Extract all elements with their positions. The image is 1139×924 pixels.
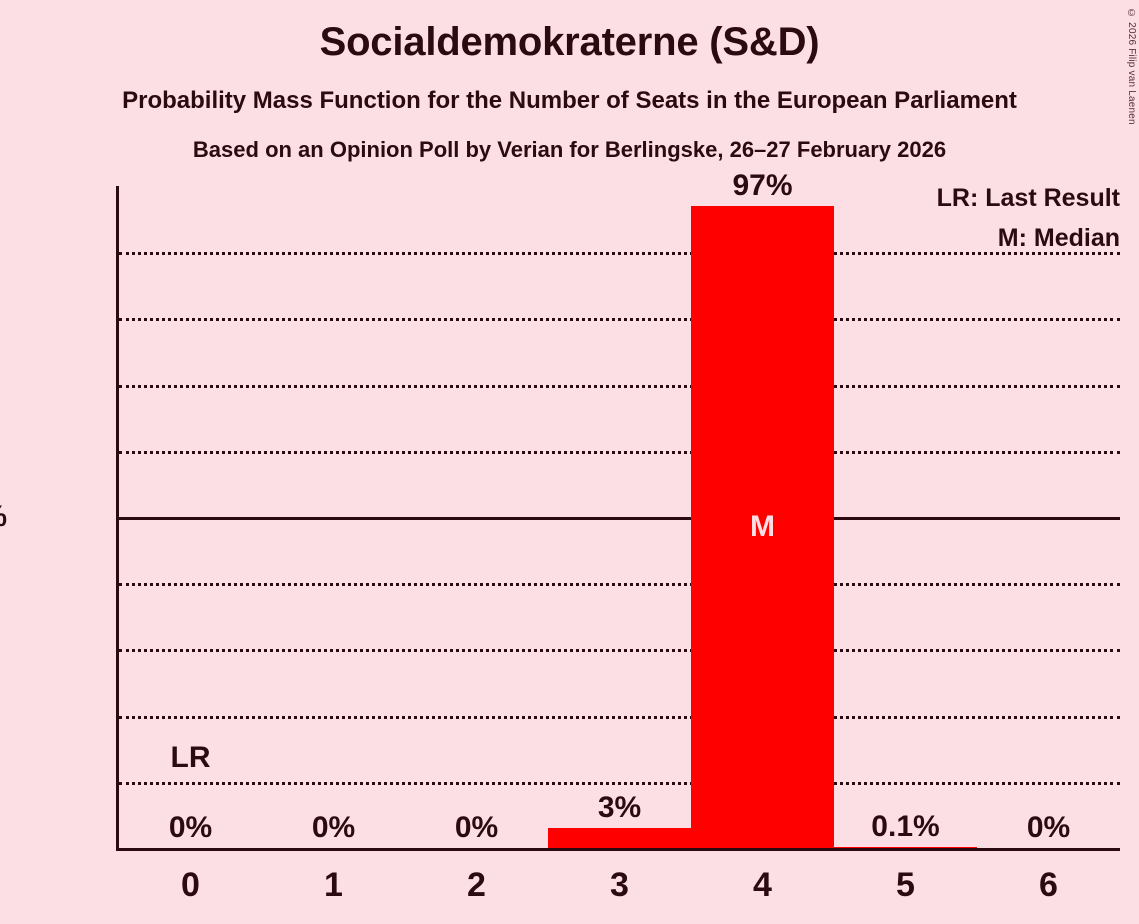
bar-seat-5[interactable] bbox=[834, 847, 977, 848]
chart-source-line: Based on an Opinion Poll by Verian for B… bbox=[0, 139, 1139, 161]
gridline-70 bbox=[119, 385, 1120, 388]
chart-subtitle: Probability Mass Function for the Number… bbox=[0, 89, 1139, 113]
y-tick-label-50: 50% bbox=[0, 502, 7, 532]
gridline-20 bbox=[119, 716, 1120, 719]
bar-value-label-1: 0% bbox=[262, 813, 405, 843]
bar-value-label-6: 0% bbox=[977, 813, 1120, 843]
x-tick-label-1: 1 bbox=[262, 868, 405, 902]
x-tick-label-0: 0 bbox=[119, 868, 262, 902]
chart-root: Socialdemokraterne (S&D) Probability Mas… bbox=[0, 0, 1139, 924]
chart-title: Socialdemokraterne (S&D) bbox=[0, 22, 1139, 62]
bar-value-label-4: 97% bbox=[691, 171, 834, 201]
x-tick-label-3: 3 bbox=[548, 868, 691, 902]
gridline-60 bbox=[119, 451, 1120, 454]
x-tick-label-2: 2 bbox=[405, 868, 548, 902]
copyright-notice: © 2026 Filip van Laenen bbox=[1126, 8, 1137, 125]
x-tick-label-6: 6 bbox=[977, 868, 1120, 902]
bar-value-label-5: 0.1% bbox=[834, 812, 977, 842]
gridline-50 bbox=[119, 517, 1120, 520]
plot-area: 0%0%0%3%97%0.1%0%LRM bbox=[119, 186, 1120, 848]
bar-marker-m-4: M bbox=[691, 512, 834, 542]
gridline-10 bbox=[119, 782, 1120, 785]
x-axis-line bbox=[116, 848, 1120, 851]
x-tick-label-4: 4 bbox=[691, 868, 834, 902]
bar-seat-3[interactable] bbox=[548, 828, 691, 848]
bar-value-label-2: 0% bbox=[405, 813, 548, 843]
bar-marker-lr-0: LR bbox=[119, 743, 262, 773]
gridline-90 bbox=[119, 252, 1120, 255]
gridline-30 bbox=[119, 649, 1120, 652]
gridline-80 bbox=[119, 318, 1120, 321]
bar-value-label-0: 0% bbox=[119, 813, 262, 843]
x-tick-label-5: 5 bbox=[834, 868, 977, 902]
gridline-40 bbox=[119, 583, 1120, 586]
bar-value-label-3: 3% bbox=[548, 793, 691, 823]
